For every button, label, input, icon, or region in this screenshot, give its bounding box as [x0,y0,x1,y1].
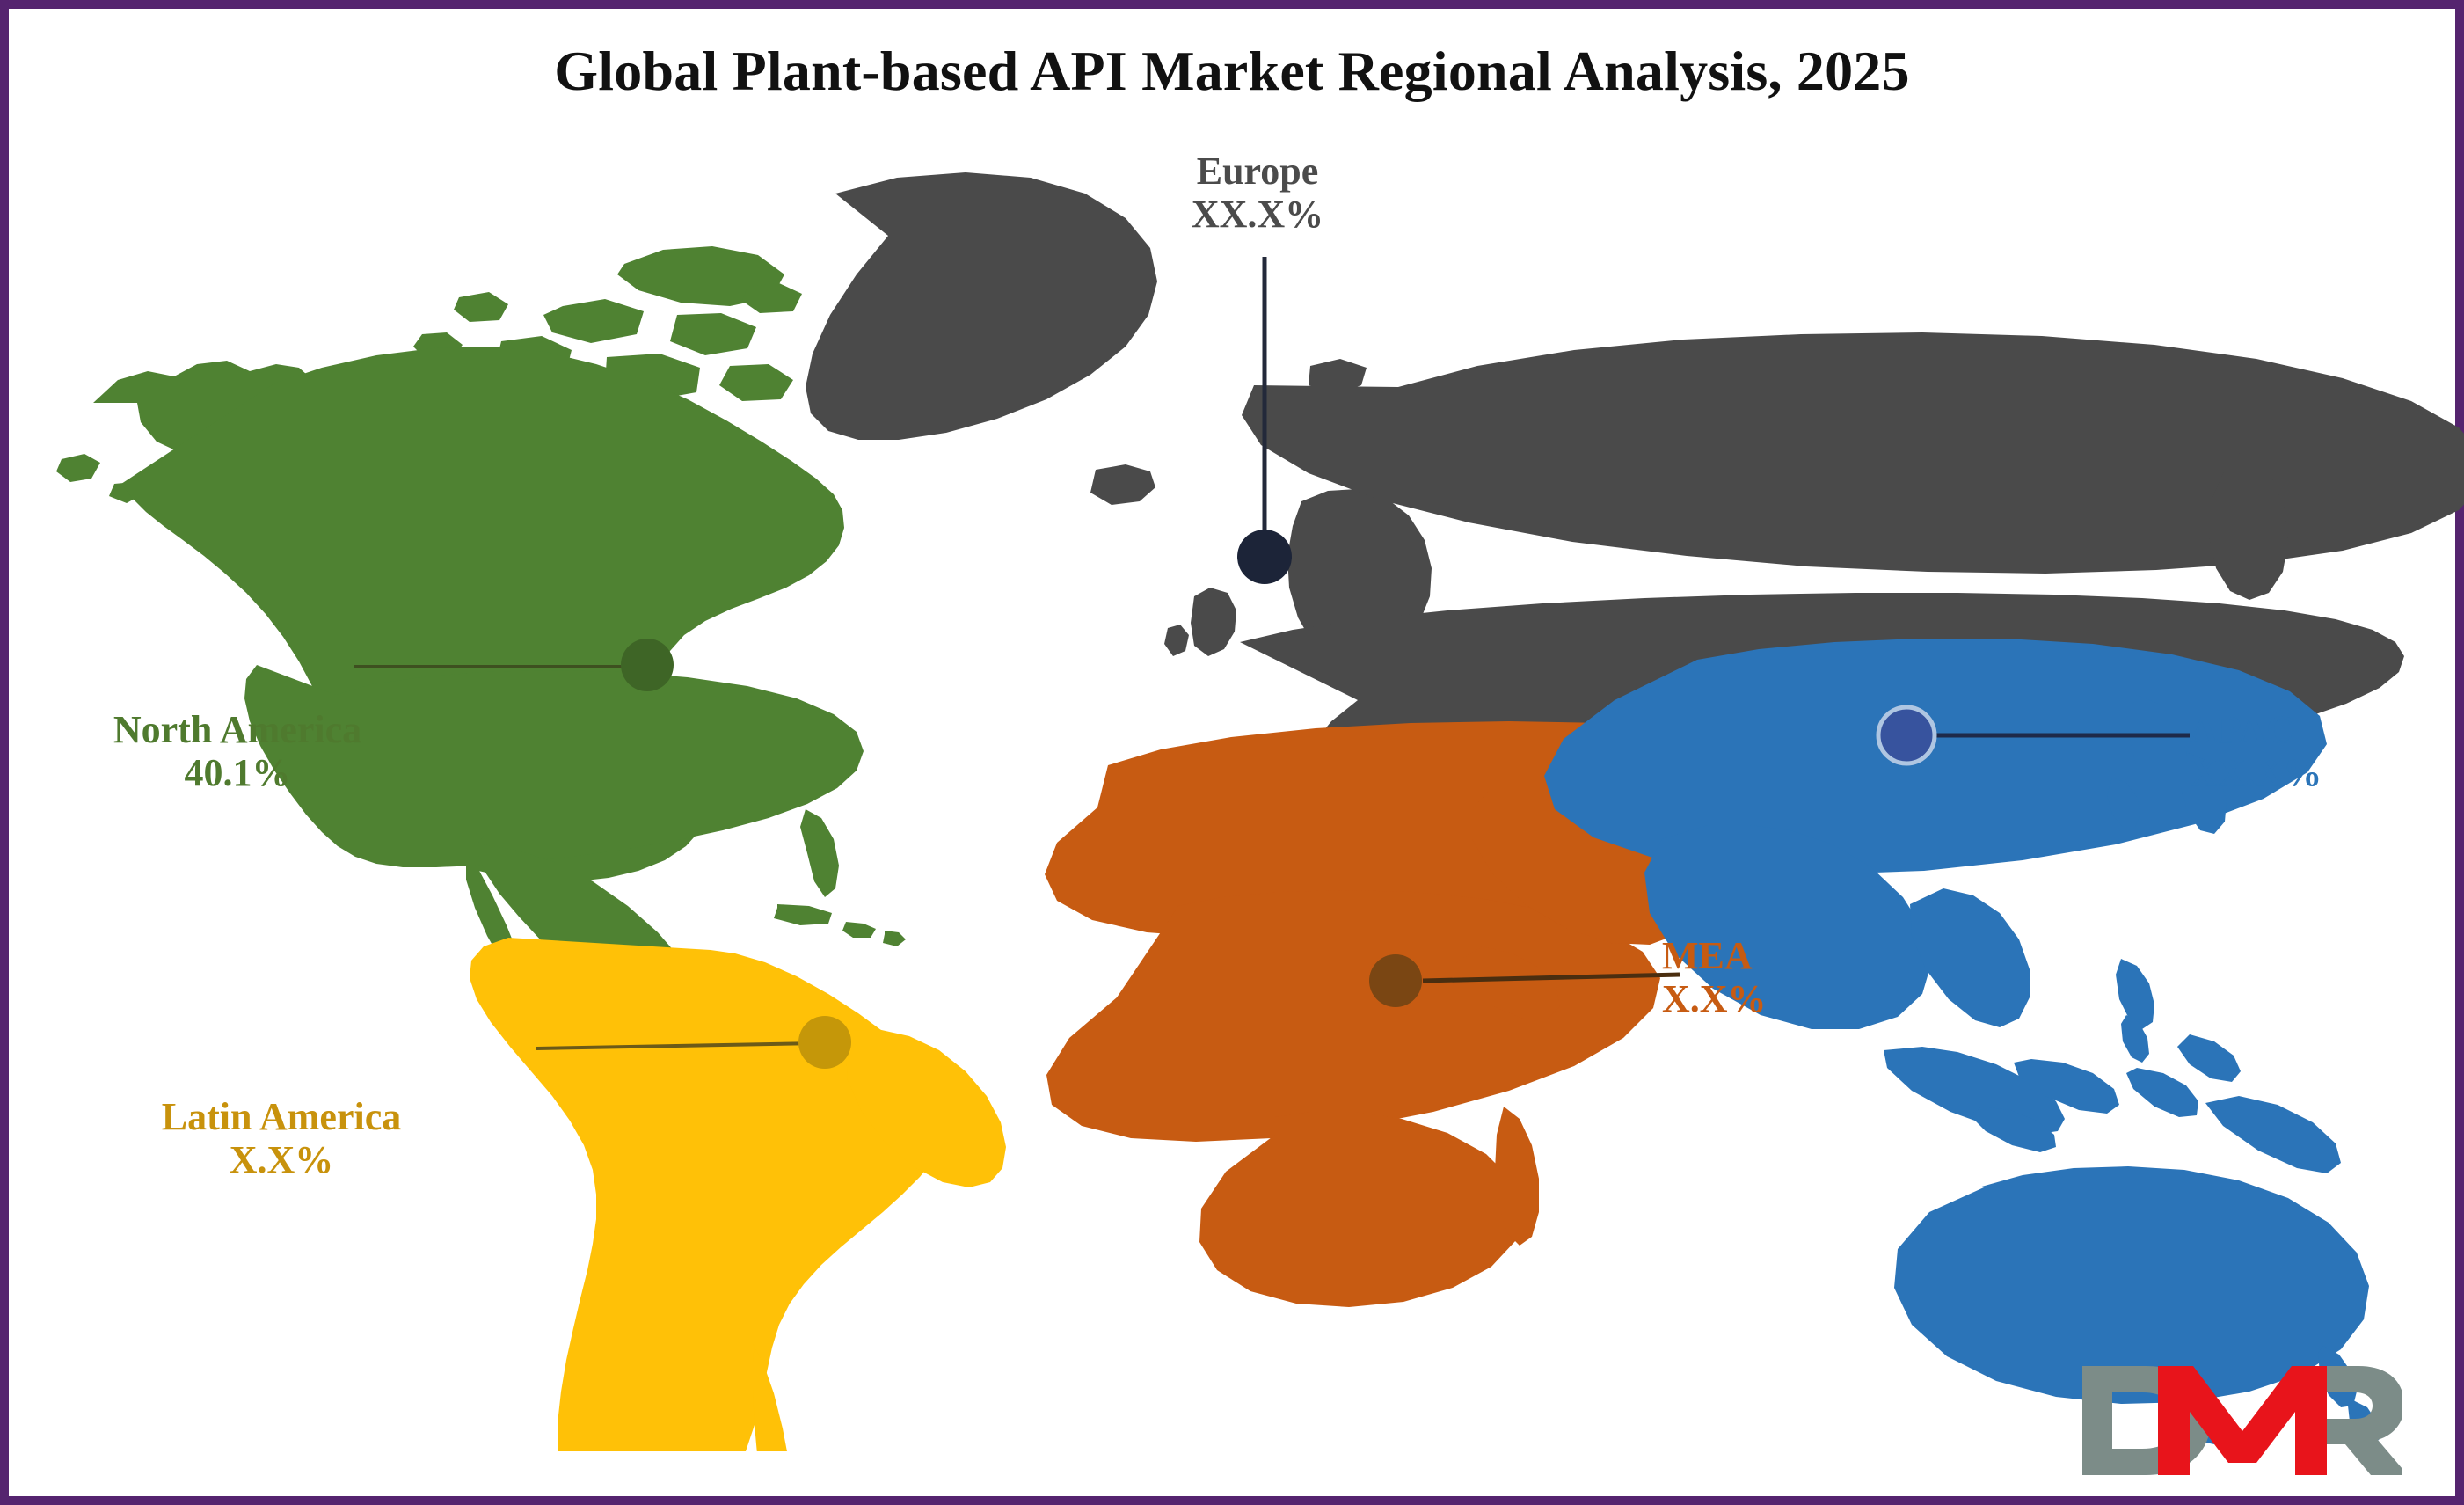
label-mea[interactable]: MEA X.X% [1662,934,1952,1021]
label-apac-name: APAC [2190,708,2464,751]
label-apac[interactable]: APAC XX.X% [2190,708,2464,795]
dmr-logo [2077,1359,2402,1482]
label-europe[interactable]: Europe XX.X% [1082,150,1433,237]
region-north-america[interactable] [56,246,906,1070]
label-latin-america-name: Latin America [88,1095,475,1138]
marker-north-america [621,639,674,691]
marker-apac [1878,707,1935,763]
label-north-america[interactable]: North America 40.1% [44,708,431,795]
region-latin-america[interactable] [470,938,1006,1451]
marker-latin-america [798,1016,851,1069]
label-mea-name: MEA [1662,934,1952,977]
label-mea-value: X.X% [1662,977,1952,1020]
label-latin-america[interactable]: Latin America X.X% [88,1095,475,1182]
logo-letter-m [2158,1366,2327,1475]
marker-mea [1369,954,1422,1007]
label-apac-value: XX.X% [2190,751,2464,794]
label-north-america-value: 40.1% [44,751,431,794]
label-europe-value: XX.X% [1082,193,1433,236]
label-europe-name: Europe [1082,150,1433,193]
label-north-america-name: North America [44,708,431,751]
page-title: Global Plant-based API Market Regional A… [9,39,2455,104]
map-infographic-page: Global Plant-based API Market Regional A… [0,0,2464,1505]
label-latin-america-value: X.X% [88,1138,475,1181]
marker-europe [1237,530,1292,584]
